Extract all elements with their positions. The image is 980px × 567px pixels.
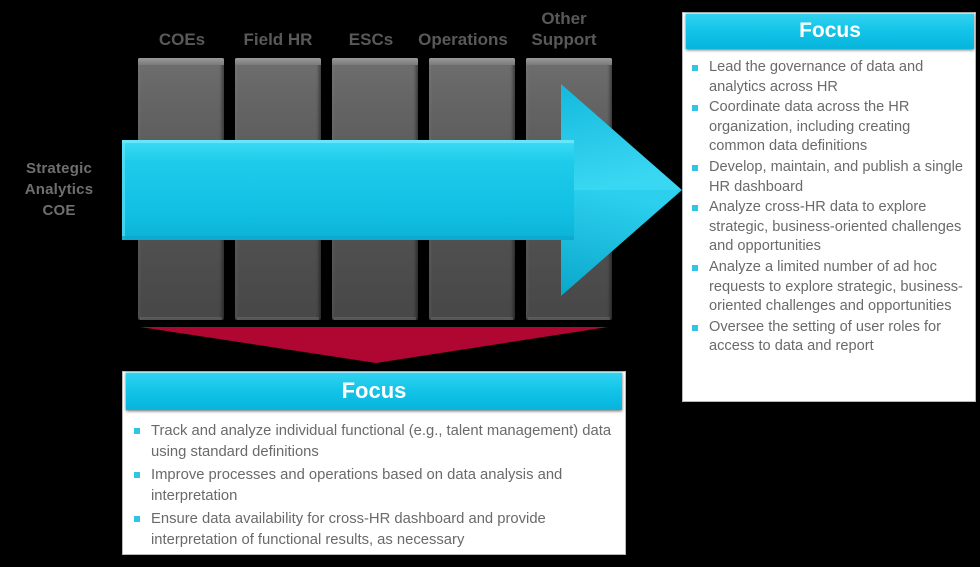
- bullet-text: Ensure data availability for cross-HR da…: [151, 511, 546, 548]
- column-header-field-hr: Field HR: [230, 29, 326, 50]
- bullet-square-icon: [692, 205, 698, 211]
- left-label-line-3: COE: [0, 200, 118, 221]
- column-header-operations-line1: Operations: [409, 29, 517, 50]
- column-header-other-support: Other Support: [514, 8, 614, 50]
- column-header-operations: Operations: [409, 29, 517, 50]
- column-header-coes: COEs: [138, 29, 226, 50]
- bullet-square-icon: [692, 325, 698, 331]
- bullet-text: Improve processes and operations based o…: [151, 467, 562, 504]
- list-item: Lead the governance of data and analytic…: [688, 58, 968, 97]
- left-label-line-2: Analytics: [0, 179, 118, 200]
- strategic-analytics-coe-label: Strategic Analytics COE: [0, 158, 118, 221]
- bullet-text: Coordinate data across the HR organizati…: [709, 99, 910, 154]
- bullet-square-icon: [692, 165, 698, 171]
- list-item: Oversee the setting of user roles for ac…: [688, 318, 968, 357]
- bullet-square-icon: [134, 516, 140, 522]
- flow-right-arrow: [120, 80, 682, 300]
- bullet-square-icon: [692, 105, 698, 111]
- list-item: Ensure data availability for cross-HR da…: [130, 509, 616, 550]
- list-item: Analyze cross-HR data to explore strateg…: [688, 198, 968, 257]
- down-triangle-arrow: [140, 325, 608, 365]
- bullet-square-icon: [692, 65, 698, 71]
- bullet-square-icon: [692, 265, 698, 271]
- column-header-other-support-line1: Other: [514, 8, 614, 29]
- column-header-other-support-line2: Support: [514, 29, 614, 50]
- bullet-text: Track and analyze individual functional …: [151, 423, 611, 460]
- bullet-text: Lead the governance of data and analytic…: [709, 59, 923, 95]
- bullet-square-icon: [134, 472, 140, 478]
- column-header-escs: ESCs: [327, 29, 415, 50]
- bottom-focus-panel-title: Focus: [126, 372, 622, 410]
- column-header-escs-line1: ESCs: [327, 29, 415, 50]
- column-header-coes-line1: COEs: [138, 29, 226, 50]
- bullet-text: Analyze a limited number of ad hoc reque…: [709, 259, 963, 314]
- bullet-text: Analyze cross-HR data to explore strateg…: [709, 199, 961, 254]
- list-item: Develop, maintain, and publish a single …: [688, 158, 968, 197]
- right-focus-panel-title: Focus: [686, 13, 974, 49]
- diagram-canvas: Strategic Analytics COE COEs Field HR ES…: [0, 0, 980, 567]
- list-item: Coordinate data across the HR organizati…: [688, 98, 968, 157]
- list-item: Improve processes and operations based o…: [130, 465, 616, 506]
- left-label-line-1: Strategic: [0, 158, 118, 179]
- bottom-focus-bullet-list: Track and analyze individual functional …: [130, 421, 616, 553]
- bullet-text: Oversee the setting of user roles for ac…: [709, 319, 941, 355]
- list-item: Analyze a limited number of ad hoc reque…: [688, 258, 968, 317]
- list-item: Track and analyze individual functional …: [130, 421, 616, 462]
- bullet-square-icon: [134, 428, 140, 434]
- bullet-text: Develop, maintain, and publish a single …: [709, 159, 963, 195]
- column-header-field-hr-line1: Field HR: [230, 29, 326, 50]
- right-focus-bullet-list: Lead the governance of data and analytic…: [688, 58, 968, 358]
